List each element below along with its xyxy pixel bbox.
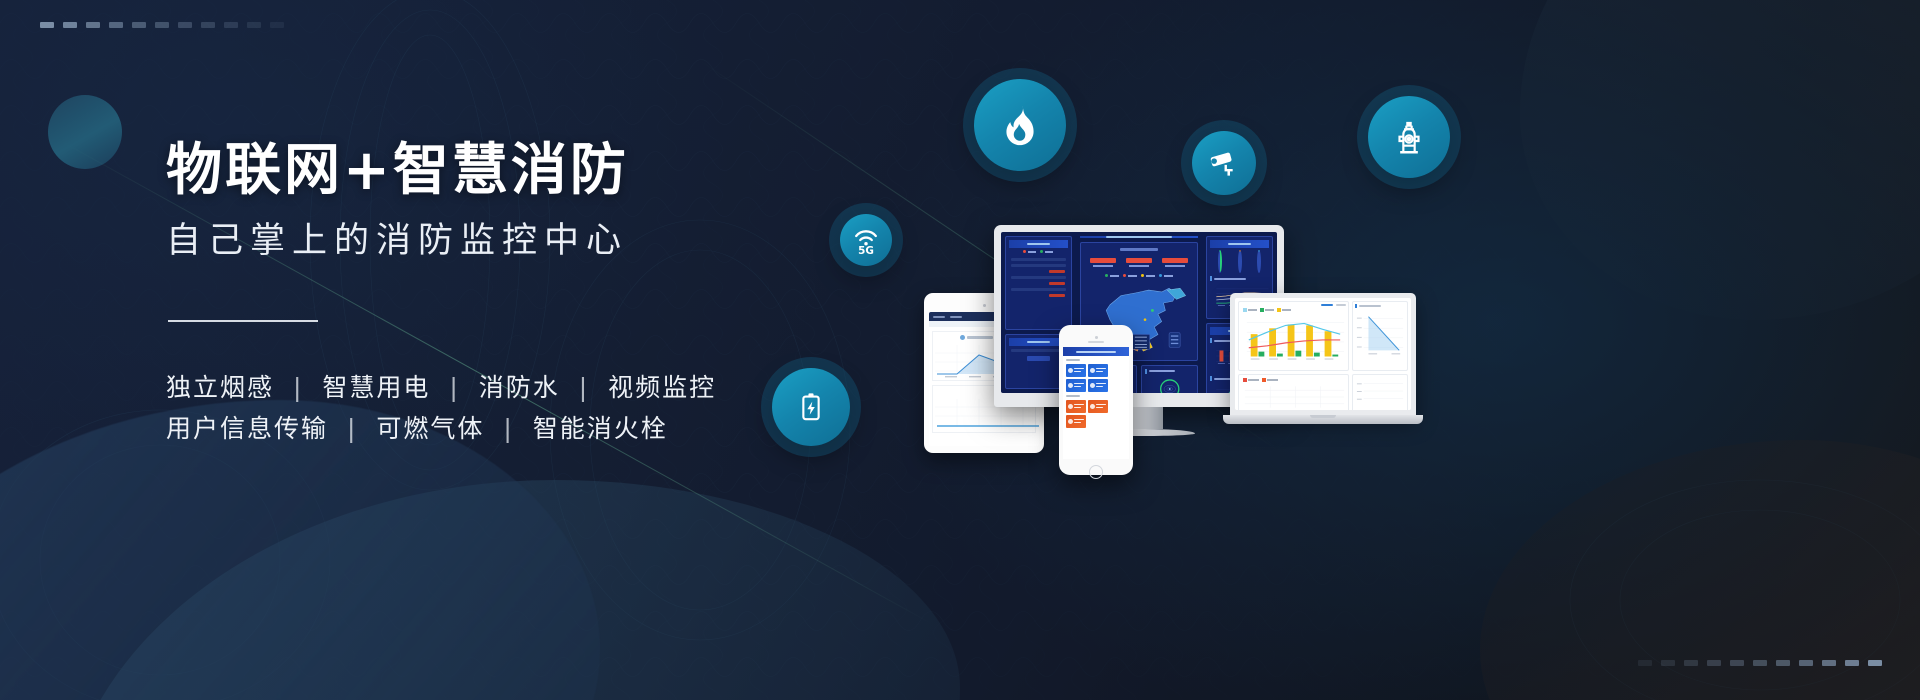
hydrant-icon-badge: 智能消火栓 bbox=[1368, 96, 1450, 178]
dash-mark bbox=[1753, 660, 1767, 666]
laptop-axis-card bbox=[1352, 374, 1408, 410]
battery-icon-badge: 智慧用电 bbox=[772, 368, 850, 446]
phone-tile[interactable] bbox=[1066, 415, 1086, 428]
dash-mark bbox=[201, 22, 215, 28]
phone-dashboard: 手机端 bbox=[1059, 325, 1133, 475]
phone-tile[interactable] bbox=[1066, 379, 1086, 392]
map-legend bbox=[1084, 272, 1195, 279]
laptop-combo-chart bbox=[1241, 314, 1346, 364]
panel-legend bbox=[1009, 248, 1068, 255]
laptop-chart-row-2 bbox=[1238, 374, 1408, 410]
dash-mark bbox=[40, 22, 54, 28]
dashboard-main-title bbox=[1080, 236, 1199, 238]
phone-tile[interactable] bbox=[1066, 364, 1086, 377]
gauge-item bbox=[1218, 252, 1222, 271]
laptop-grid-chart bbox=[1241, 384, 1346, 410]
laptop-dashboard: 笔记本端 bbox=[1230, 293, 1430, 453]
phone-tile-grid-orange bbox=[1063, 400, 1129, 428]
gauge-row bbox=[1210, 248, 1269, 273]
map-subtitle bbox=[1120, 248, 1158, 251]
feature-line-1: 独立烟感 | 智慧用电 | 消防水 | 视频监控 bbox=[166, 368, 846, 409]
flame-icon-badge: 消防火灾 bbox=[974, 79, 1066, 171]
kpi-item bbox=[1090, 258, 1116, 267]
panel-header bbox=[1009, 240, 1068, 248]
feature-separator: | bbox=[440, 373, 468, 402]
dash-mark bbox=[1684, 660, 1698, 666]
table-row-alert bbox=[1049, 270, 1064, 273]
phone-screen bbox=[1063, 347, 1129, 459]
phone-section-label-2 bbox=[1066, 395, 1126, 398]
laptop-base bbox=[1223, 415, 1423, 424]
hero-copy-block: 物联网+智慧消防 自己掌上的消防监控中心 独立烟感 | 智慧用电 | 消防水 |… bbox=[166, 140, 846, 449]
dash-mark bbox=[178, 22, 192, 28]
feature-separator: | bbox=[284, 373, 312, 402]
decor-blob-top-right bbox=[1520, 0, 1920, 320]
feature-item: 智慧用电 bbox=[322, 373, 430, 402]
table-row bbox=[1011, 349, 1066, 352]
laptop-chart-row-1 bbox=[1238, 301, 1408, 371]
table-row bbox=[1011, 288, 1066, 291]
laptop-trackpad-notch bbox=[1310, 415, 1336, 418]
phone-speaker bbox=[1088, 341, 1104, 343]
table-row bbox=[1011, 276, 1066, 279]
panel-button[interactable] bbox=[1027, 356, 1050, 361]
laptop-axis-chart bbox=[1355, 377, 1405, 407]
phone-app-header bbox=[1063, 347, 1129, 356]
feature-separator: | bbox=[338, 414, 366, 443]
dash-mark bbox=[63, 22, 77, 28]
5g-icon-badge: 5G 5G bbox=[840, 214, 892, 266]
laptop-decline-card bbox=[1352, 301, 1408, 371]
table-row bbox=[1011, 258, 1066, 261]
page-subtitle: 自己掌上的消防监控中心 bbox=[166, 219, 846, 265]
phone-camera-dot bbox=[1095, 336, 1098, 339]
feature-item: 消防水 bbox=[479, 373, 560, 402]
kpi-row bbox=[1084, 253, 1195, 272]
tab-active[interactable] bbox=[1321, 304, 1333, 306]
laptop-bar-line-card bbox=[1238, 301, 1349, 371]
dash-mark bbox=[1776, 660, 1790, 666]
kpi-item bbox=[1126, 258, 1152, 267]
phone-tile[interactable] bbox=[1088, 379, 1108, 392]
ring-gauge-chart bbox=[1145, 374, 1194, 393]
feature-line-2: 用户信息传输 | 可燃气体 | 智能消火栓 bbox=[166, 409, 846, 450]
device-cluster: 平板端 bbox=[900, 225, 1440, 475]
table-row-alert bbox=[1049, 282, 1064, 285]
svg-text:5G: 5G bbox=[858, 245, 874, 255]
chart-legend bbox=[1241, 307, 1346, 314]
alarm-list-panel bbox=[1005, 236, 1072, 330]
dash-mark bbox=[1661, 660, 1675, 666]
dash-mark bbox=[1730, 660, 1744, 666]
feature-separator: | bbox=[494, 414, 522, 443]
dash-mark bbox=[224, 22, 238, 28]
tab-inactive[interactable] bbox=[1336, 304, 1346, 306]
dash-mark bbox=[247, 22, 261, 28]
page-title: 物联网+智慧消防 bbox=[166, 140, 846, 203]
dash-mark bbox=[1799, 660, 1813, 666]
phone-tile[interactable] bbox=[1088, 400, 1108, 413]
laptop-lid bbox=[1230, 293, 1416, 415]
feature-item: 可燃气体 bbox=[376, 414, 484, 443]
feature-item: 独立烟感 bbox=[166, 373, 274, 402]
dash-mark bbox=[1868, 660, 1882, 666]
phone-section-label-1 bbox=[1066, 359, 1126, 362]
camera-icon-badge: 视频监控 bbox=[1192, 131, 1256, 195]
table-row bbox=[1011, 264, 1066, 267]
phone-tile[interactable] bbox=[1066, 400, 1086, 413]
dash-mark bbox=[132, 22, 146, 28]
decor-dash-row-top-left bbox=[40, 22, 284, 28]
feature-item: 智能消火栓 bbox=[533, 414, 668, 443]
phone-tile-grid-blue bbox=[1063, 364, 1129, 392]
decor-dash-row-bottom-right bbox=[1638, 660, 1882, 666]
feature-item: 用户信息传输 bbox=[166, 414, 328, 443]
kpi-item bbox=[1162, 258, 1188, 267]
feature-separator: | bbox=[570, 373, 598, 402]
dash-mark bbox=[109, 22, 123, 28]
dash-mark bbox=[1638, 660, 1652, 666]
laptop-screen bbox=[1235, 298, 1411, 410]
table-row-alert bbox=[1049, 294, 1064, 297]
feature-list: 独立烟感 | 智慧用电 | 消防水 | 视频监控 用户信息传输 | 可燃气体 |… bbox=[166, 368, 846, 449]
gauge-item bbox=[1238, 252, 1242, 271]
chart-legend bbox=[1241, 377, 1346, 384]
dash-mark bbox=[1707, 660, 1721, 666]
title-divider bbox=[168, 320, 318, 322]
laptop-decline-area-chart bbox=[1355, 308, 1405, 360]
dash-mark bbox=[86, 22, 100, 28]
panel-header bbox=[1210, 240, 1269, 248]
chart-marker-dot bbox=[960, 335, 965, 340]
gauge-item bbox=[1257, 252, 1261, 271]
phone-home-button[interactable] bbox=[1089, 465, 1103, 479]
dash-mark bbox=[270, 22, 284, 28]
tablet-camera-dot bbox=[983, 304, 986, 307]
hero-banner: 物联网+智慧消防 自己掌上的消防监控中心 独立烟感 | 智慧用电 | 消防水 |… bbox=[0, 0, 1920, 700]
radar-panel-right bbox=[1141, 365, 1198, 393]
feature-item: 视频监控 bbox=[608, 373, 716, 402]
laptop-table-card bbox=[1238, 374, 1349, 410]
phone-tile[interactable] bbox=[1088, 364, 1108, 377]
decor-blob-bottom-left-2 bbox=[60, 480, 960, 700]
dash-mark bbox=[1845, 660, 1859, 666]
chart-title-bar bbox=[967, 336, 993, 339]
dash-mark bbox=[1822, 660, 1836, 666]
dash-mark bbox=[155, 22, 169, 28]
decor-circle-teal bbox=[48, 95, 122, 169]
